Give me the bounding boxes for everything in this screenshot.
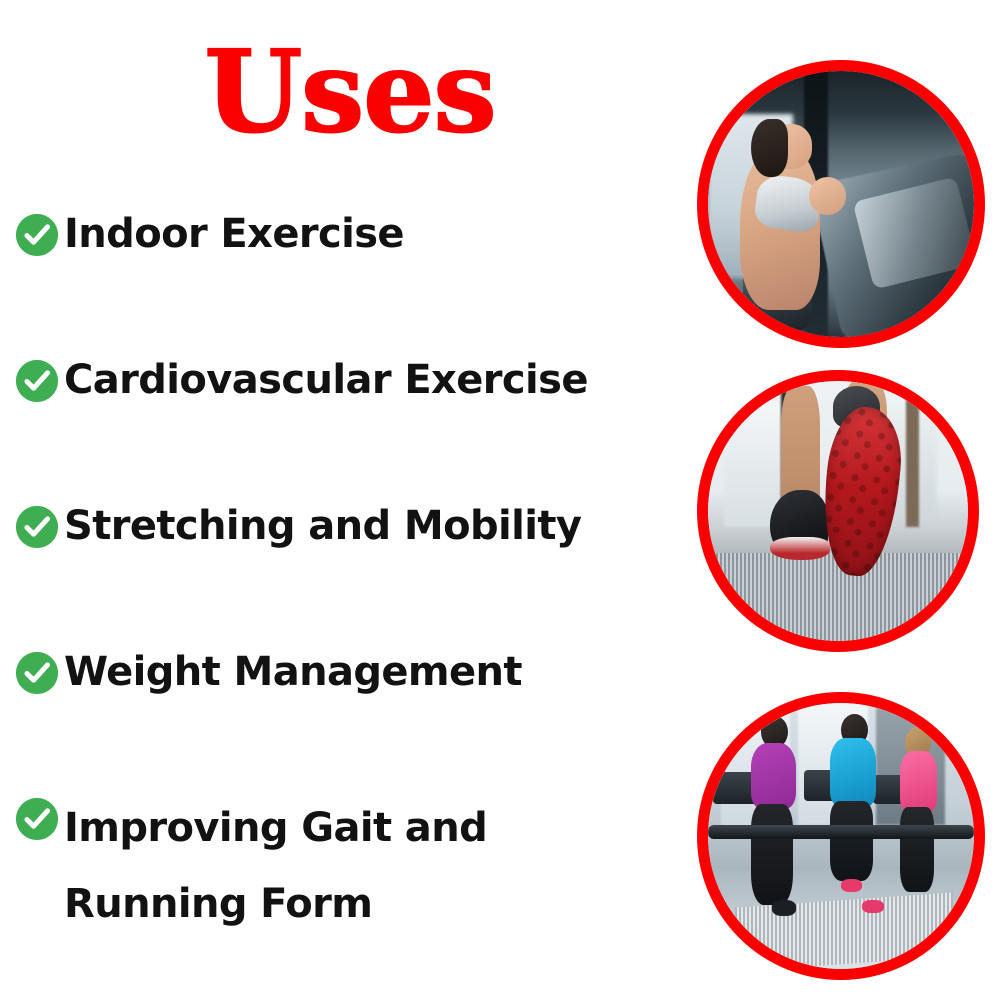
uses-checklist: Indoor Exercise Cardiovascular Exercise …: [14, 206, 686, 942]
uses-infographic: Uses Indoor Exercise Cardiovascular Exer…: [0, 0, 1000, 1000]
photo-running-shoe-sole: [697, 370, 979, 652]
photo-image: [708, 703, 974, 969]
check-circle-icon: [14, 796, 60, 842]
list-item-label: Stretching and Mobility: [62, 498, 581, 554]
list-item-label: Indoor Exercise: [62, 206, 404, 262]
photo-image: [708, 71, 974, 337]
check-circle-icon: [14, 212, 60, 258]
photo-three-runners-treadmills: [697, 692, 985, 980]
list-item-label: Weight Management: [62, 644, 522, 700]
list-item-label: Cardiovascular Exercise: [62, 352, 588, 408]
check-circle-icon: [14, 504, 60, 550]
list-item: Cardiovascular Exercise: [14, 352, 686, 498]
list-item: Improving Gait and Running Form: [14, 790, 686, 942]
list-item-label: Improving Gait and Running Form: [62, 790, 624, 942]
page-title: Uses: [0, 34, 700, 152]
list-item: Indoor Exercise: [14, 206, 686, 352]
check-circle-icon: [14, 650, 60, 696]
list-item: Stretching and Mobility: [14, 498, 686, 644]
check-circle-icon: [14, 358, 60, 404]
list-item: Weight Management: [14, 644, 686, 790]
photo-woman-running-treadmill: [697, 60, 985, 348]
photo-image: [708, 381, 968, 641]
